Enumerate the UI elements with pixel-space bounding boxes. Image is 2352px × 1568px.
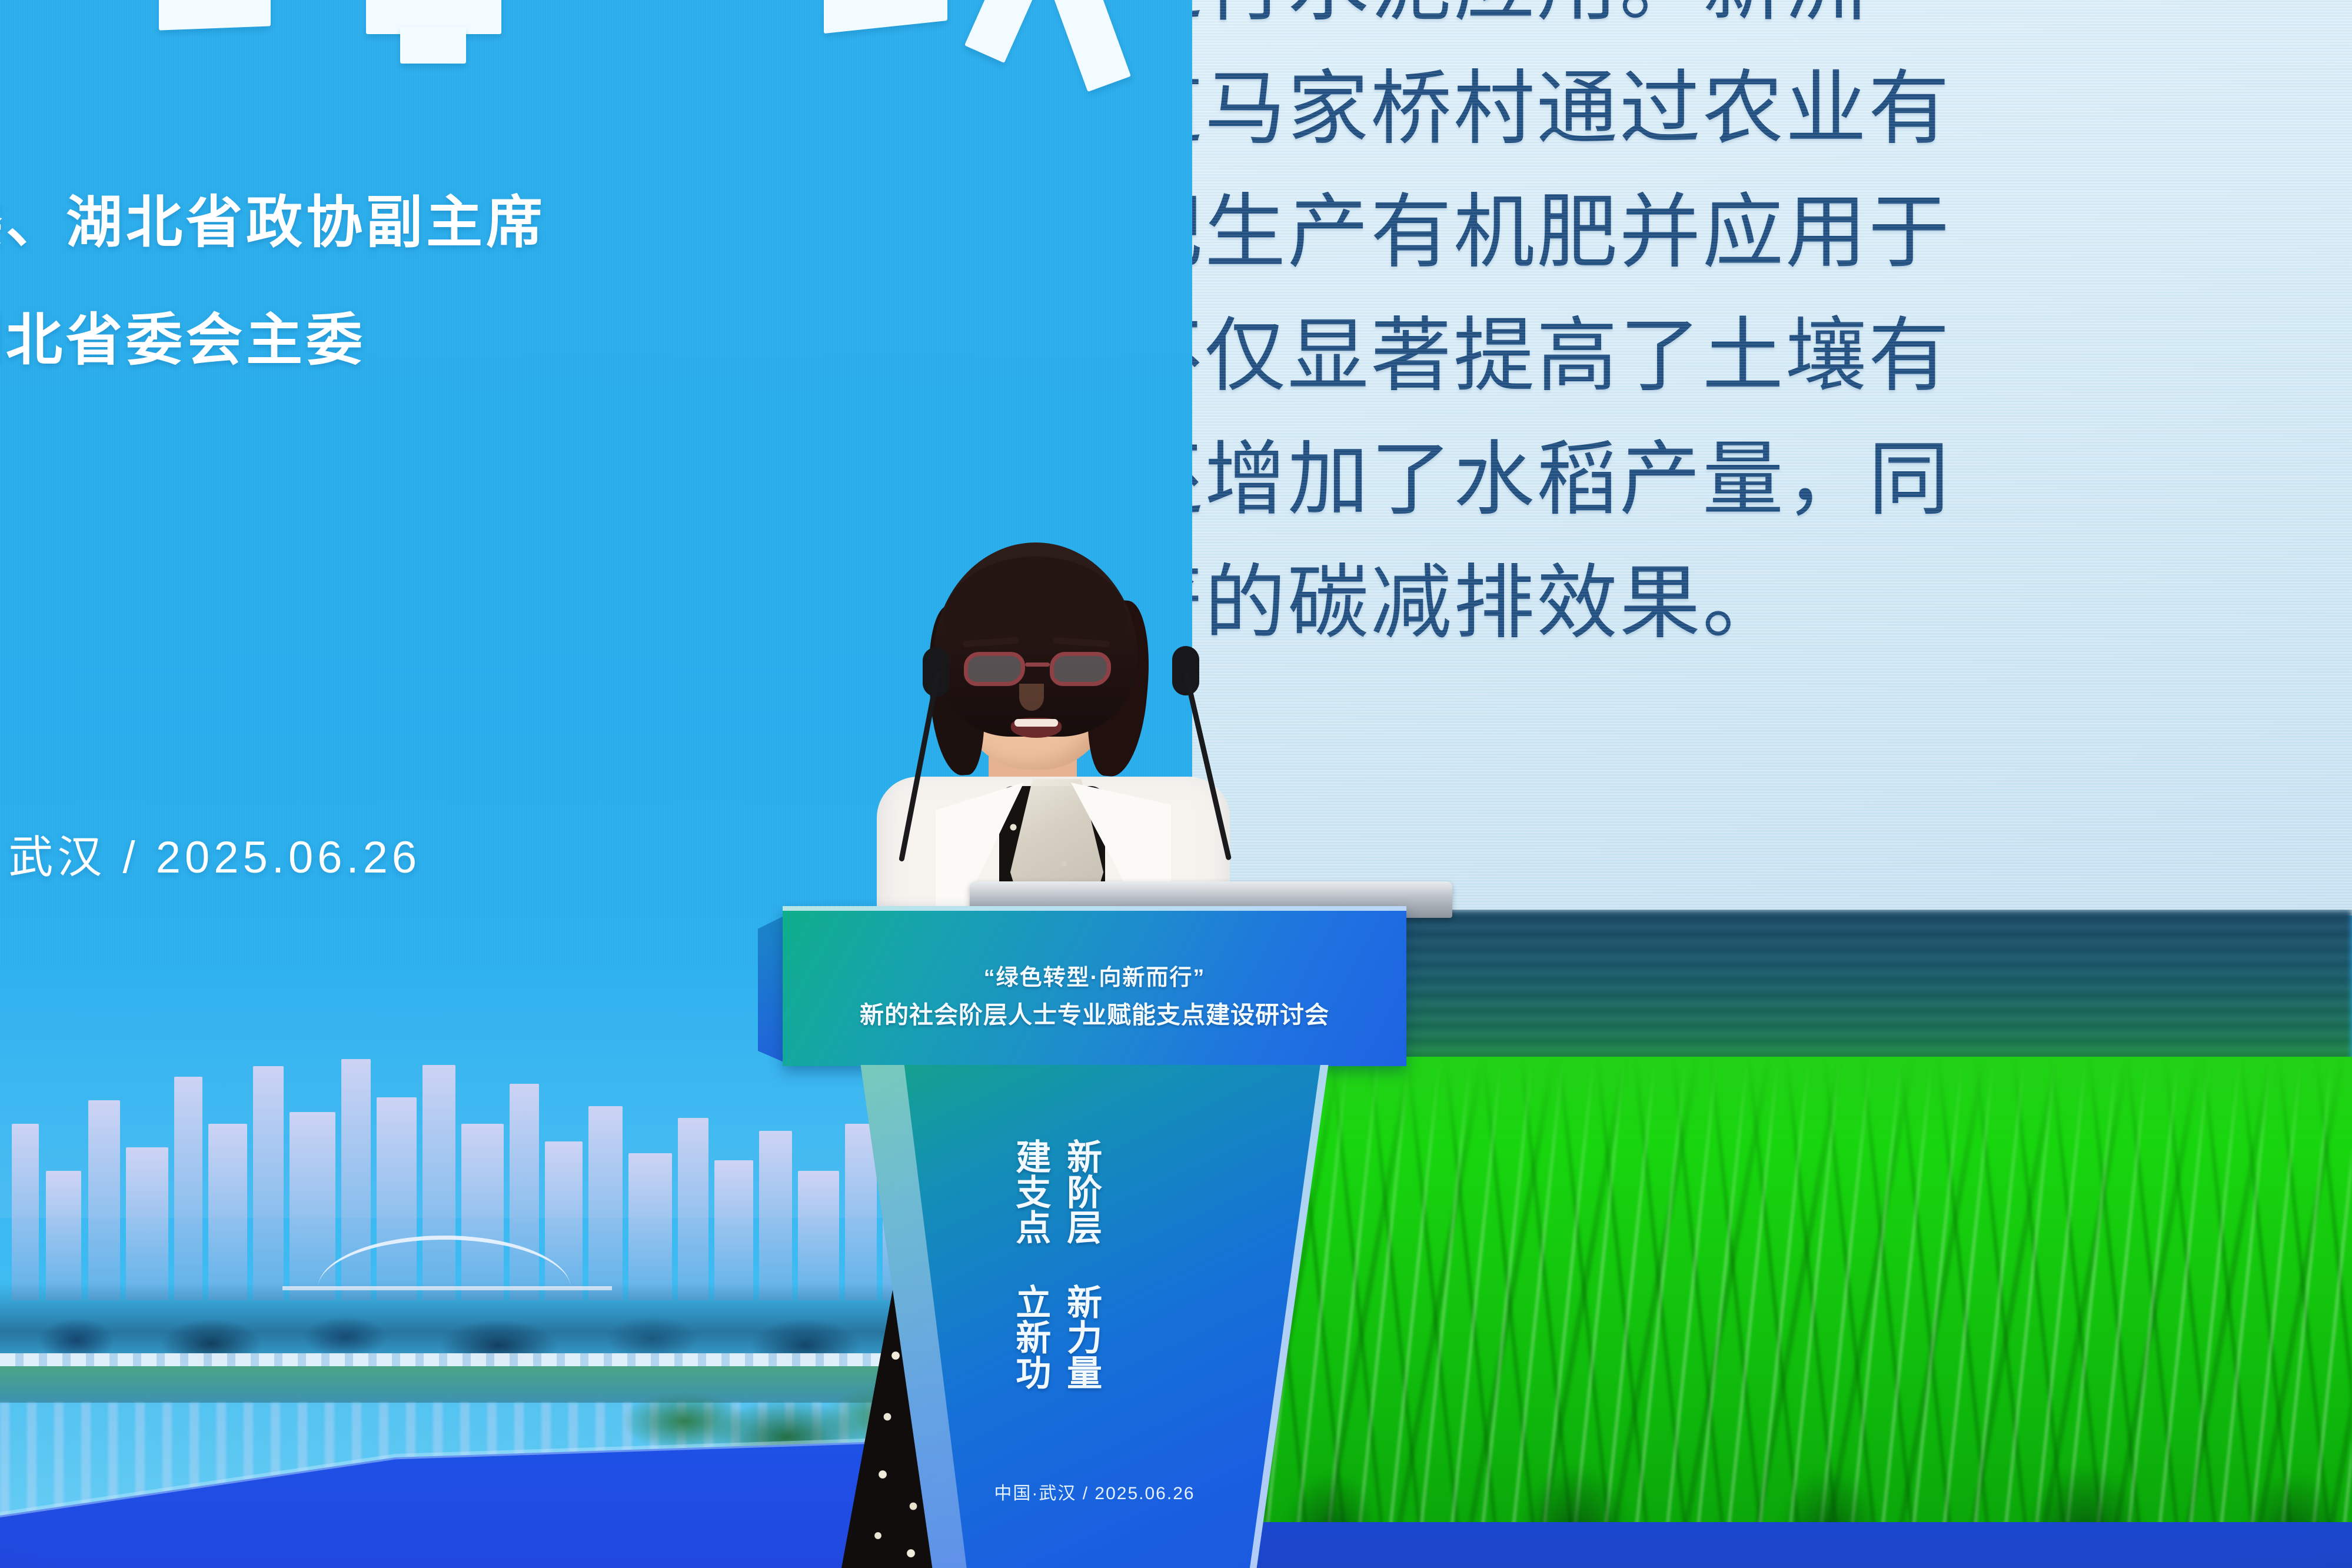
slide-line: 肥生产有机肥并应用于 <box>1192 171 2352 294</box>
eyeglasses <box>964 652 1111 688</box>
slide-line: 不仅显著提高了土壤有 <box>1192 294 2352 418</box>
river-promenade <box>0 1353 959 1366</box>
title-glyph-fragment <box>400 27 466 64</box>
title-glyph-fragment <box>964 0 1040 63</box>
podium-banner-title: 新的社会阶层人士专业赋能支点建设研讨会 <box>860 995 1329 1030</box>
stage-photo: 委、湖北省政协副主席 湖北省委会主委 · 武汉 / 2025.06.26 <box>0 0 2352 1568</box>
presentation-screen: 进行水泥应用。新洲 道马家桥村通过农业有 肥生产有机肥并应用于 不仅显著提高了土… <box>1192 0 2352 916</box>
title-glyph-fragment <box>1042 0 1131 92</box>
teeth <box>1014 719 1058 727</box>
lens-left <box>964 652 1025 686</box>
podium-slogan-column-left: 建支点 立新功 <box>1011 1138 1049 1390</box>
lens-right <box>1050 652 1111 686</box>
podium-banner: “绿色转型·向新而行” 新的社会阶层人士专业赋能支点建设研讨会 <box>783 953 1406 1036</box>
backdrop-subtitle-line-2: 湖北省委会主委 <box>0 294 366 376</box>
podium-vertical-slogan: 建支点 立新功 新阶层 新力量 <box>1011 1138 1100 1390</box>
slide-text-block: 进行水泥应用。新洲 道马家桥村通过农业有 肥生产有机肥并应用于 不仅显著提高了土… <box>1192 0 2352 665</box>
podium-footer-text: 中国·武汉 / 2025.06.26 <box>783 1471 1406 1512</box>
podium-banner-quote: “绿色转型·向新而行” <box>984 959 1206 991</box>
backdrop-subtitle-line-1: 委、湖北省政协副主席 <box>0 177 546 258</box>
slide-line: 进行水泥应用。新洲 <box>1192 0 2352 47</box>
slide-line: 还增加了水稻产量，同 <box>1192 418 2352 541</box>
slide-line: 著的碳减排效果。 <box>1192 541 2352 665</box>
title-glyph-fragment <box>159 0 271 31</box>
title-glyph-fragment <box>824 0 947 34</box>
slide-line: 道马家桥村通过农业有 <box>1192 47 2352 171</box>
glasses-bridge <box>1025 663 1050 667</box>
backdrop-date-line: · 武汉 / 2025.06.26 <box>0 821 421 885</box>
podium-top-left-face <box>758 916 785 1063</box>
screen-bottom-floor <box>1192 1522 2352 1568</box>
tree-line <box>0 1283 959 1365</box>
podium-top-rim <box>783 906 1406 911</box>
podium-slogan-column-right: 新阶层 新力量 <box>1062 1138 1100 1390</box>
